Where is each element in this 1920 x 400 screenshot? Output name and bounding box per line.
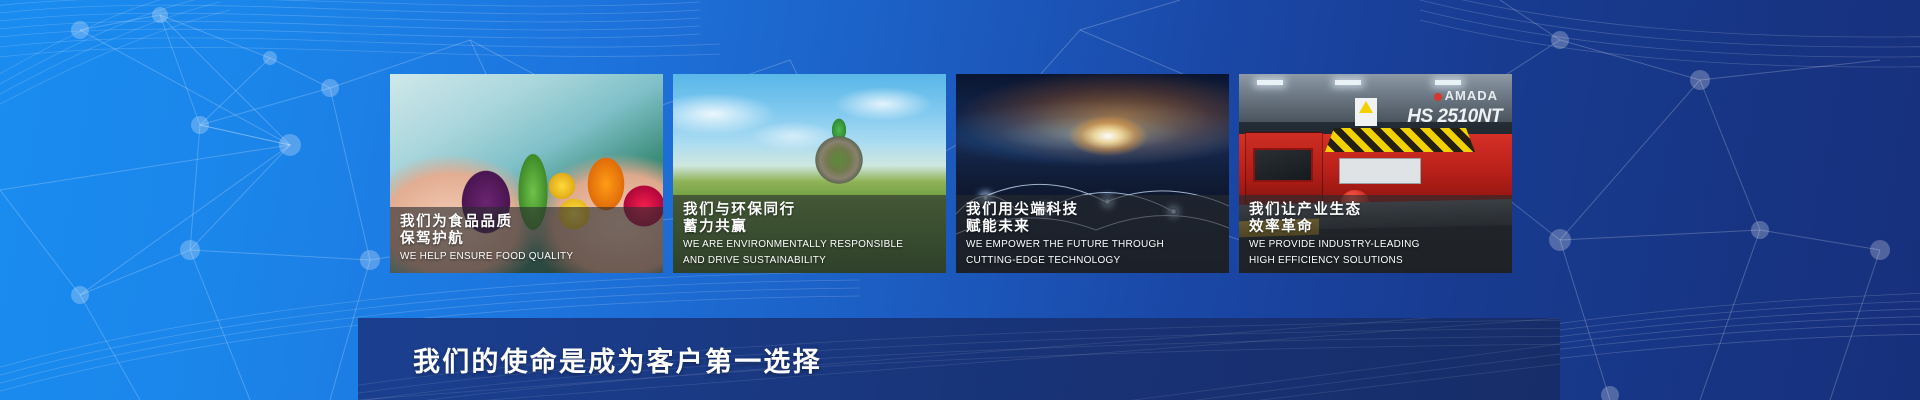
machine-hazard-hood [1325, 128, 1475, 152]
mission-cards-row: 我们为食品品质 保驾护航 WE HELP ENSURE FOOD QUALITY… [390, 74, 1530, 273]
card-headline-cn-line2: 保驾护航 [400, 231, 663, 248]
mission-statement-banner: 我们的使命是成为客户第一选择 [358, 318, 1560, 400]
card-headline-cn-line2: 效率革命 [1249, 219, 1512, 236]
mission-card-technology[interactable]: 我们用尖端科技 赋能未来 WE EMPOWER THE FUTURE THROU… [956, 74, 1229, 273]
card-subtext-en-line2: HIGH EFFICIENCY SOLUTIONS [1249, 255, 1512, 268]
card-caption: 我们与环保同行 蓄力共赢 WE ARE ENVIRONMENTALLY RESP… [673, 195, 946, 273]
card-subtext-en-line1: WE HELP ENSURE FOOD QUALITY [400, 251, 663, 264]
mission-statement-headline: 我们的使命是成为客户第一选择 [413, 340, 822, 379]
card-subtext-en-line2: CUTTING-EDGE TECHNOLOGY [966, 255, 1229, 268]
card-headline-cn-line1: 我们为食品品质 [400, 214, 663, 231]
card-headline-cn-line2: 蓄力共赢 [683, 219, 946, 236]
machine-brand-text: AMADA [1445, 88, 1498, 103]
mission-card-food-quality[interactable]: 我们为食品品质 保驾护航 WE HELP ENSURE FOOD QUALITY [390, 74, 663, 273]
machine-label-plate [1339, 158, 1421, 184]
mission-card-industry[interactable]: AMADA HS 2510NT 我们让产业生态 效率革命 WE PROVIDE … [1239, 74, 1512, 273]
card-subtext-en-line1: WE PROVIDE INDUSTRY-LEADING [1249, 239, 1512, 252]
machine-model-label: HS 2510NT [1407, 106, 1502, 128]
card-headline-cn-line1: 我们让产业生态 [1249, 202, 1512, 219]
machine-brand-label: AMADA [1434, 88, 1498, 103]
card-caption: 我们为食品品质 保驾护航 WE HELP ENSURE FOOD QUALITY [390, 207, 663, 273]
card-subtext-en-line1: WE ARE ENVIRONMENTALLY RESPONSIBLE [683, 239, 946, 252]
warning-sign-icon [1355, 98, 1377, 126]
card-subtext-en-line1: WE EMPOWER THE FUTURE THROUGH [966, 239, 1229, 252]
card-headline-cn-line1: 我们与环保同行 [683, 202, 946, 219]
hero-banner-section: 我们为食品品质 保驾护航 WE HELP ENSURE FOOD QUALITY… [0, 0, 1920, 400]
card-headline-cn-line1: 我们用尖端科技 [966, 202, 1229, 219]
mission-card-environment[interactable]: 我们与环保同行 蓄力共赢 WE ARE ENVIRONMENTALLY RESP… [673, 74, 946, 273]
card-caption: 我们让产业生态 效率革命 WE PROVIDE INDUSTRY-LEADING… [1239, 195, 1512, 273]
card-headline-cn-line2: 赋能未来 [966, 219, 1229, 236]
card-caption: 我们用尖端科技 赋能未来 WE EMPOWER THE FUTURE THROU… [956, 195, 1229, 273]
machine-window [1253, 148, 1313, 182]
card-subtext-en-line2: AND DRIVE SUSTAINABILITY [683, 255, 946, 268]
